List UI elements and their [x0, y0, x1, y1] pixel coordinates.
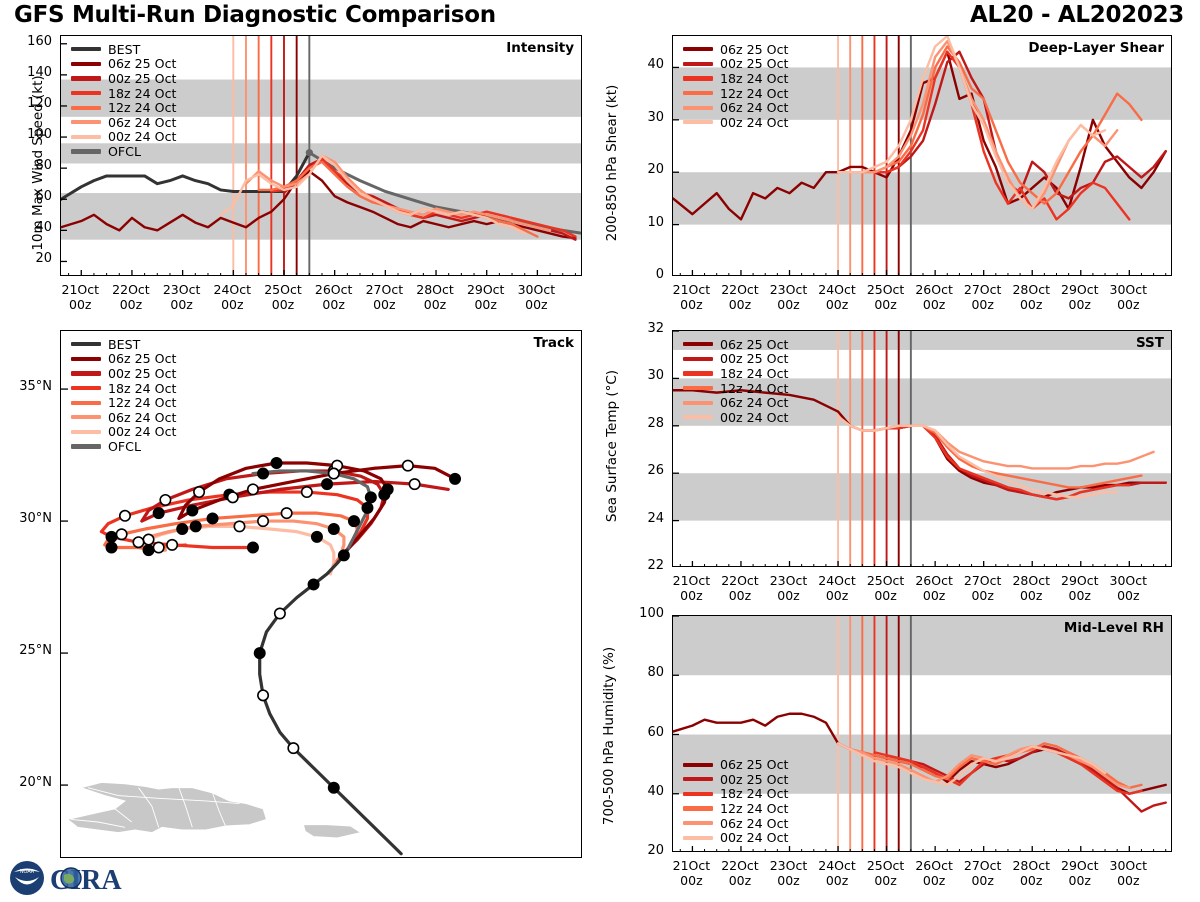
y-tick-label: 120: [10, 96, 52, 111]
track-marker-open: [234, 521, 244, 531]
legend-swatch: [71, 47, 101, 51]
legend-swatch: [683, 792, 713, 796]
legend-item[interactable]: 00z 25 Oct: [71, 366, 176, 381]
legend-label: 06z 24 Oct: [720, 100, 788, 115]
y-tick-label: 160: [10, 34, 52, 49]
sst-panel-title: SST: [1136, 335, 1164, 351]
legend-item[interactable]: 18z 24 Oct: [683, 71, 788, 86]
legend-item[interactable]: 00z 24 Oct: [683, 115, 788, 130]
legend-label: 06z 24 Oct: [720, 395, 788, 410]
legend-swatch: [71, 386, 101, 390]
y-tick-label: 20: [622, 162, 664, 177]
x-tick-hour: 00z: [729, 297, 751, 312]
legend-label: 00z 24 Oct: [720, 830, 788, 845]
x-tick-hour: 00z: [525, 297, 547, 312]
legend-item[interactable]: 12z 24 Oct: [683, 801, 788, 816]
x-tick-hour: 00z: [1069, 297, 1091, 312]
x-tick-hour: 00z: [680, 873, 702, 888]
x-tick-label: 30Oct00z: [506, 283, 566, 313]
intensity-plot-area[interactable]: Intensity BEST06z 25 Oct00z 25 Oct18z 24…: [60, 35, 582, 276]
track-marker-filled: [329, 783, 339, 793]
legend-label: 06z 25 Oct: [108, 56, 176, 71]
legend-item[interactable]: 12z 24 Oct: [683, 86, 788, 101]
legend-item[interactable]: BEST: [71, 42, 176, 57]
legend-label: 12z 24 Oct: [720, 801, 788, 816]
legend-label: 18z 24 Oct: [720, 366, 788, 381]
track-panel-title: Track: [534, 335, 574, 351]
x-tick-hour: 00z: [1020, 588, 1042, 603]
x-tick-hour: 00z: [474, 297, 496, 312]
y-tick-label: 32: [622, 321, 664, 336]
legend-label: 06z 25 Oct: [108, 351, 176, 366]
legend-swatch: [71, 371, 101, 375]
legend-label: 18z 24 Oct: [108, 381, 176, 396]
legend-item[interactable]: OFCL: [71, 144, 176, 159]
x-tick-date: 30Oct: [1110, 858, 1148, 873]
x-tick-hour: 00z: [729, 588, 751, 603]
x-tick-hour: 00z: [221, 297, 243, 312]
track-marker-open: [329, 468, 339, 478]
legend-item[interactable]: 12z 24 Oct: [683, 381, 788, 396]
legend-item[interactable]: BEST: [71, 337, 176, 352]
legend-label: 00z 25 Oct: [108, 366, 176, 381]
x-tick-date: 27Oct: [964, 573, 1002, 588]
x-tick-date: 22Oct: [721, 858, 759, 873]
legend-swatch: [683, 401, 713, 405]
x-tick-hour: 00z: [971, 873, 993, 888]
legend-item[interactable]: 06z 25 Oct: [683, 337, 788, 352]
shear-ylabel: 200-850 hPa Shear (kt): [604, 43, 620, 283]
legend-swatch: [71, 415, 101, 419]
x-tick-date: 23Oct: [770, 858, 808, 873]
legend-label: 06z 24 Oct: [720, 816, 788, 831]
track-marker-filled: [106, 542, 116, 552]
legend-swatch: [683, 76, 713, 80]
lat-tick-label: 25°N: [0, 643, 52, 658]
x-tick-date: 29Oct: [1061, 858, 1099, 873]
x-tick-date: 29Oct: [1061, 573, 1099, 588]
x-tick-hour: 00z: [680, 297, 702, 312]
legend-label: 12z 24 Oct: [720, 86, 788, 101]
legend-swatch: [683, 415, 713, 419]
y-tick-label: 80: [622, 665, 664, 680]
x-tick-date: 25Oct: [867, 573, 905, 588]
svg-text:NOAA: NOAA: [20, 869, 35, 875]
legend-label: 00z 25 Oct: [720, 351, 788, 366]
track-marker-filled: [308, 579, 318, 589]
legend-swatch: [71, 444, 101, 448]
page-title-left: GFS Multi-Run Diagnostic Comparison: [14, 2, 496, 28]
x-tick-date: 26Oct: [315, 282, 353, 297]
lat-tick-label: 30°N: [0, 511, 52, 526]
legend-swatch: [71, 401, 101, 405]
legend-item[interactable]: 06z 25 Oct: [71, 352, 176, 367]
legend-label: 00z 25 Oct: [108, 71, 176, 86]
y-tick-label: 60: [622, 725, 664, 740]
y-tick-label: 28: [622, 416, 664, 431]
legend-item[interactable]: 00z 25 Oct: [71, 71, 176, 86]
shaded-band: [673, 172, 1172, 224]
legend-item[interactable]: 00z 25 Oct: [683, 772, 788, 787]
y-tick-label: 100: [622, 606, 664, 621]
legend-swatch: [683, 342, 713, 346]
x-tick-date: 26Oct: [915, 282, 953, 297]
branding-logos: NOAA CIRA: [8, 858, 140, 898]
legend-label: 12z 24 Oct: [108, 100, 176, 115]
x-tick-hour: 00z: [373, 297, 395, 312]
x-tick-date: 26Oct: [915, 573, 953, 588]
legend-swatch: [683, 821, 713, 825]
x-tick-hour: 00z: [874, 297, 896, 312]
track-marker-open: [258, 516, 268, 526]
x-tick-hour: 00z: [1020, 297, 1042, 312]
x-tick-date: 21Oct: [62, 282, 100, 297]
x-tick-date: 28Oct: [1012, 573, 1050, 588]
noaa-logo: NOAA: [10, 861, 44, 895]
legend-label: 00z 24 Oct: [108, 424, 176, 439]
x-tick-hour: 00z: [322, 297, 344, 312]
x-tick-date: 30Oct: [518, 282, 556, 297]
x-tick-hour: 00z: [680, 588, 702, 603]
track-marker-filled: [187, 505, 197, 515]
legend-label: 06z 25 Oct: [720, 337, 788, 352]
x-tick-hour: 00z: [1117, 297, 1139, 312]
legend-swatch: [683, 763, 713, 767]
legend-swatch: [683, 371, 713, 375]
x-tick-date: 23Oct: [770, 282, 808, 297]
x-tick-hour: 00z: [923, 588, 945, 603]
sst-ylabel: Sea Surface Temp (°C): [604, 326, 620, 566]
x-tick-hour: 00z: [826, 297, 848, 312]
track-marker-filled: [271, 458, 281, 468]
legend-item[interactable]: 00z 24 Oct: [683, 410, 788, 425]
legend-item[interactable]: 06z 24 Oct: [71, 410, 176, 425]
legend-swatch: [683, 106, 713, 110]
legend-label: BEST: [108, 42, 140, 57]
legend-item[interactable]: 18z 24 Oct: [683, 366, 788, 381]
track-marker-filled: [349, 516, 359, 526]
x-tick-date: 27Oct: [964, 282, 1002, 297]
x-tick-hour: 00z: [1069, 588, 1091, 603]
x-tick-date: 28Oct: [416, 282, 454, 297]
track-marker-filled: [258, 468, 268, 478]
lat-tick-label: 35°N: [0, 379, 52, 394]
rh-panel-title: Mid-Level RH: [1064, 620, 1164, 636]
x-tick-hour: 00z: [1117, 588, 1139, 603]
track-marker-open: [275, 608, 285, 618]
sst-legend: 06z 25 Oct00z 25 Oct18z 24 Oct12z 24 Oct…: [683, 337, 788, 425]
track-marker-open: [116, 529, 126, 539]
legend-swatch: [71, 135, 101, 139]
legend-item[interactable]: 00z 24 Oct: [71, 130, 176, 145]
legend-item[interactable]: 18z 24 Oct: [71, 381, 176, 396]
x-tick-hour: 00z: [424, 297, 446, 312]
track-marker-filled: [143, 545, 153, 555]
track-marker-open: [403, 460, 413, 470]
x-tick-hour: 00z: [729, 873, 751, 888]
track-marker-open: [288, 743, 298, 753]
legend-swatch: [71, 62, 101, 66]
legend-label: 18z 24 Oct: [108, 86, 176, 101]
legend-label: OFCL: [108, 144, 141, 159]
legend-label: 06z 25 Oct: [720, 757, 788, 772]
track-marker-open: [302, 487, 312, 497]
legend-label: 00z 24 Oct: [108, 129, 176, 144]
x-tick-hour: 00z: [874, 588, 896, 603]
track-marker-open: [194, 487, 204, 497]
track-marker-filled: [450, 474, 460, 484]
legend-item[interactable]: 06z 25 Oct: [71, 57, 176, 72]
track-line: [260, 550, 401, 854]
x-tick-date: 25Oct: [867, 858, 905, 873]
track-marker-filled: [106, 532, 116, 542]
x-tick-date: 24Oct: [818, 573, 856, 588]
legend-item[interactable]: 06z 25 Oct: [683, 757, 788, 772]
track-marker-filled: [248, 542, 258, 552]
ofcl-start-marker: [306, 149, 313, 156]
track-marker-open: [153, 542, 163, 552]
track-marker-filled: [322, 479, 332, 489]
legend-swatch: [71, 106, 101, 110]
legend-swatch: [71, 357, 101, 361]
track-marker-filled: [207, 513, 217, 523]
x-tick-date: 21Oct: [673, 282, 711, 297]
x-tick-date: 21Oct: [673, 573, 711, 588]
x-tick-hour: 00z: [1117, 873, 1139, 888]
track-plot-area[interactable]: Track BEST06z 25 Oct00z 25 Oct18z 24 Oct…: [60, 330, 582, 858]
legend-swatch: [683, 91, 713, 95]
intensity-panel-title: Intensity: [506, 40, 574, 56]
track-marker-open: [143, 534, 153, 544]
x-tick-date: 26Oct: [915, 858, 953, 873]
track-marker-filled: [339, 550, 349, 560]
x-tick-hour: 00z: [826, 873, 848, 888]
x-tick-hour: 00z: [777, 588, 799, 603]
legend-label: BEST: [108, 337, 140, 352]
shaded-band: [673, 473, 1172, 520]
legend-swatch: [683, 386, 713, 390]
legend-label: 00z 24 Oct: [720, 115, 788, 130]
y-tick-label: 40: [622, 784, 664, 799]
legend-item[interactable]: 00z 25 Oct: [683, 57, 788, 72]
lat-tick-label: 20°N: [0, 775, 52, 790]
y-tick-label: 20: [622, 843, 664, 858]
legend-item[interactable]: 18z 24 Oct: [683, 787, 788, 802]
intensity-legend: BEST06z 25 Oct00z 25 Oct18z 24 Oct12z 24…: [71, 42, 176, 159]
legend-swatch: [71, 120, 101, 124]
legend-label: 06z 24 Oct: [108, 410, 176, 425]
x-tick-hour: 00z: [777, 873, 799, 888]
y-tick-label: 80: [10, 158, 52, 173]
x-tick-date: 29Oct: [1061, 282, 1099, 297]
x-tick-hour: 00z: [923, 873, 945, 888]
track-marker-open: [281, 508, 291, 518]
track-marker-open: [228, 492, 238, 502]
legend-label: 00z 25 Oct: [720, 56, 788, 71]
legend-item[interactable]: 06z 24 Oct: [683, 100, 788, 115]
x-tick-label: 30Oct00z: [1098, 859, 1158, 889]
x-tick-label: 30Oct00z: [1098, 574, 1158, 604]
legend-label: 00z 24 Oct: [720, 410, 788, 425]
legend-swatch: [71, 149, 101, 153]
page-title-right: AL20 - AL202023: [970, 2, 1184, 28]
legend-item[interactable]: 00z 24 Oct: [683, 830, 788, 845]
x-tick-date: 22Oct: [112, 282, 150, 297]
x-tick-hour: 00z: [923, 297, 945, 312]
legend-item[interactable]: 00z 25 Oct: [683, 352, 788, 367]
legend-label: OFCL: [108, 439, 141, 454]
track-marker-open: [248, 484, 258, 494]
series-line: [850, 426, 1153, 469]
x-tick-hour: 00z: [971, 297, 993, 312]
x-tick-date: 29Oct: [467, 282, 505, 297]
track-marker-open: [167, 540, 177, 550]
rh-legend: 06z 25 Oct00z 25 Oct18z 24 Oct12z 24 Oct…: [683, 757, 788, 845]
track-marker-filled: [191, 521, 201, 531]
x-tick-date: 22Oct: [721, 573, 759, 588]
x-tick-date: 23Oct: [163, 282, 201, 297]
y-tick-label: 10: [622, 215, 664, 230]
track-marker-filled: [362, 503, 372, 513]
y-tick-label: 20: [10, 251, 52, 266]
y-tick-label: 100: [10, 127, 52, 142]
legend-swatch: [683, 47, 713, 51]
x-tick-label: 30Oct00z: [1098, 283, 1158, 313]
legend-item[interactable]: 06z 24 Oct: [71, 115, 176, 130]
landmass-puerto-rico: [304, 825, 361, 838]
shear-legend: 06z 25 Oct00z 25 Oct18z 24 Oct12z 24 Oct…: [683, 42, 788, 130]
x-tick-hour: 00z: [1069, 873, 1091, 888]
x-tick-date: 24Oct: [818, 858, 856, 873]
y-tick-label: 0: [622, 267, 664, 282]
track-marker-filled: [254, 648, 264, 658]
track-marker-open: [160, 495, 170, 505]
track-marker-filled: [312, 532, 322, 542]
x-tick-date: 25Oct: [867, 282, 905, 297]
track-marker-filled: [153, 508, 163, 518]
y-tick-label: 22: [622, 558, 664, 573]
sst-plot-area[interactable]: SST 06z 25 Oct00z 25 Oct18z 24 Oct12z 24…: [672, 330, 1172, 567]
x-tick-hour: 00z: [1020, 873, 1042, 888]
x-tick-hour: 00z: [874, 873, 896, 888]
x-tick-date: 24Oct: [214, 282, 252, 297]
legend-item[interactable]: 06z 24 Oct: [683, 816, 788, 831]
rh-plot-area[interactable]: Mid-Level RH 06z 25 Oct00z 25 Oct18z 24 …: [672, 615, 1172, 852]
legend-swatch: [683, 836, 713, 840]
track-marker-filled: [177, 524, 187, 534]
y-tick-label: 30: [622, 368, 664, 383]
track-marker-filled: [329, 524, 339, 534]
legend-item[interactable]: 00z 24 Oct: [71, 425, 176, 440]
x-tick-date: 27Oct: [366, 282, 404, 297]
legend-item[interactable]: 06z 25 Oct: [683, 42, 788, 57]
legend-item[interactable]: 18z 24 Oct: [71, 86, 176, 101]
y-tick-label: 30: [622, 110, 664, 125]
legend-swatch: [71, 342, 101, 346]
track-marker-filled: [382, 484, 392, 494]
track-marker-open: [133, 537, 143, 547]
legend-item[interactable]: OFCL: [71, 439, 176, 454]
y-tick-label: 26: [622, 463, 664, 478]
legend-swatch: [683, 62, 713, 66]
legend-label: 06z 25 Oct: [720, 42, 788, 57]
x-tick-hour: 00z: [826, 588, 848, 603]
x-tick-hour: 00z: [69, 297, 91, 312]
track-marker-open: [258, 690, 268, 700]
legend-swatch: [683, 806, 713, 810]
legend-item[interactable]: 12z 24 Oct: [71, 395, 176, 410]
legend-label: 06z 24 Oct: [108, 115, 176, 130]
y-tick-label: 60: [10, 189, 52, 204]
x-tick-date: 21Oct: [673, 858, 711, 873]
legend-swatch: [683, 357, 713, 361]
track-legend: BEST06z 25 Oct00z 25 Oct18z 24 Oct12z 24…: [71, 337, 176, 454]
x-tick-date: 27Oct: [964, 858, 1002, 873]
x-tick-hour: 00z: [120, 297, 142, 312]
x-tick-date: 23Oct: [770, 573, 808, 588]
track-marker-open: [120, 511, 130, 521]
legend-item[interactable]: 12z 24 Oct: [71, 100, 176, 115]
legend-label: 18z 24 Oct: [720, 786, 788, 801]
legend-label: 12z 24 Oct: [108, 395, 176, 410]
legend-label: 00z 25 Oct: [720, 772, 788, 787]
x-tick-hour: 00z: [971, 588, 993, 603]
x-tick-hour: 00z: [777, 297, 799, 312]
x-tick-date: 30Oct: [1110, 573, 1148, 588]
legend-swatch: [71, 91, 101, 95]
legend-swatch: [71, 76, 101, 80]
x-tick-date: 22Oct: [721, 282, 759, 297]
shear-panel-title: Deep-Layer Shear: [1028, 40, 1164, 56]
legend-swatch: [683, 777, 713, 781]
legend-swatch: [71, 430, 101, 434]
track-marker-filled: [366, 492, 376, 502]
legend-label: 12z 24 Oct: [720, 381, 788, 396]
rh-ylabel: 700-500 hPa Humidity (%): [601, 611, 617, 861]
y-tick-label: 40: [10, 220, 52, 235]
x-tick-hour: 00z: [272, 297, 294, 312]
x-tick-hour: 00z: [170, 297, 192, 312]
y-tick-label: 140: [10, 65, 52, 80]
shear-plot-area[interactable]: Deep-Layer Shear 06z 25 Oct00z 25 Oct18z…: [672, 35, 1172, 276]
x-tick-date: 30Oct: [1110, 282, 1148, 297]
x-tick-date: 24Oct: [818, 282, 856, 297]
y-tick-label: 24: [622, 511, 664, 526]
legend-swatch: [683, 120, 713, 124]
track-marker-open: [409, 479, 419, 489]
x-tick-date: 25Oct: [264, 282, 302, 297]
cira-logo: CIRA: [50, 865, 122, 896]
x-tick-date: 28Oct: [1012, 858, 1050, 873]
y-tick-label: 40: [622, 57, 664, 72]
legend-label: 18z 24 Oct: [720, 71, 788, 86]
x-tick-date: 28Oct: [1012, 282, 1050, 297]
legend-item[interactable]: 06z 24 Oct: [683, 395, 788, 410]
